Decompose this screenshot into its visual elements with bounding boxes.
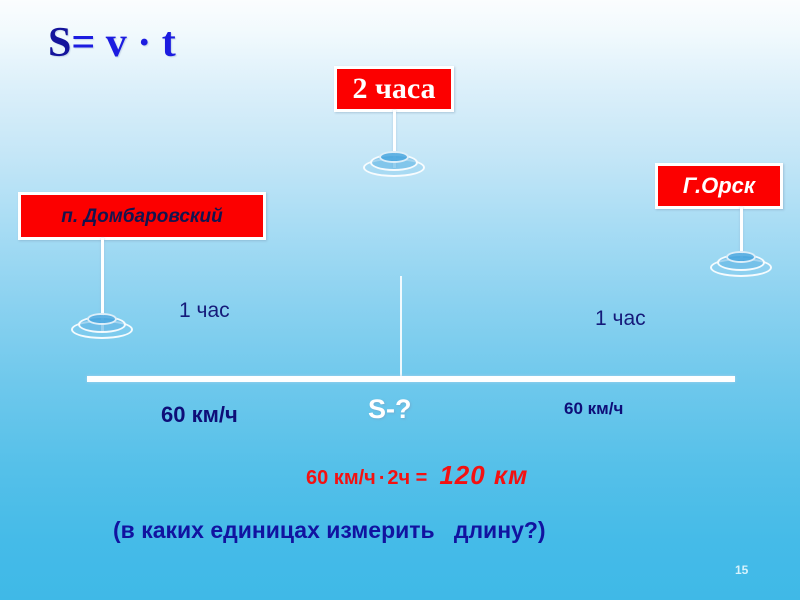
label-time-right: 1 час [595,308,646,329]
segment-midpoint-tick [400,276,402,378]
sign-total-time[interactable]: 2 часа [334,66,454,112]
page-number: 15 [735,564,748,576]
question-text: (в каких единицах измерить длину?) [113,519,546,542]
equation-multiply-operator: ∙ [376,467,388,489]
location-marker-dombarovsky-icon [71,312,133,340]
equation-solution: 60 км/ч∙2ч =120 км [306,462,528,488]
formula-symbol-s: S [48,20,71,66]
label-unknown-distance: S-? [368,396,412,423]
location-marker-midpoint-icon [363,150,425,178]
ripple-inner-ring [379,151,409,163]
label-speed-left: 60 км/ч [161,404,238,426]
label-speed-right: 60 км/ч [564,400,623,417]
location-marker-orsk-icon [710,250,772,278]
distance-segment-line [87,376,735,382]
equation-result: 120 км [427,460,528,490]
sign-orsk[interactable]: Г.Орск [655,163,783,209]
formula-s-equals-v-times-t: S= v · t [48,22,176,64]
equation-operand-time: 2ч = [387,467,427,489]
formula-expression: = v · t [71,20,175,66]
sign-orsk-label: Г.Орск [683,175,755,197]
sign-total-time-label: 2 часа [352,74,435,104]
equation-operand-speed: 60 км/ч [306,467,376,489]
sign-dombarovsky-label: п. Домбаровский [61,207,223,226]
ripple-inner-ring [726,251,756,263]
sign-dombarovsky[interactable]: п. Домбаровский [18,192,266,240]
slide-canvas: S= v · t п. Домбаровский 2 часа Г.Орск 1… [0,0,800,600]
label-time-left: 1 час [179,300,230,321]
ripple-inner-ring [87,313,117,325]
